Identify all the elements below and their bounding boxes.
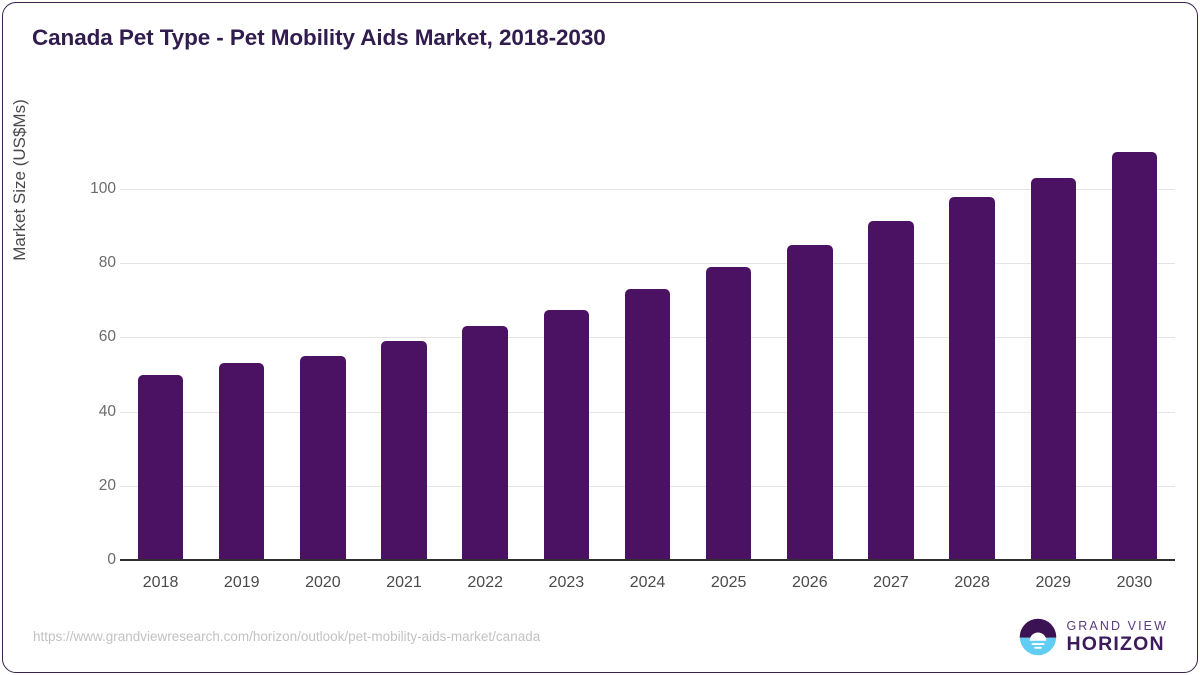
y-axis-tick-label: 60 [99,328,116,346]
y-axis-tick-label: 80 [99,254,116,272]
x-axis-tick-label: 2029 [1035,574,1071,592]
x-axis-tick-label: 2030 [1117,574,1153,592]
x-axis-tick-label: 2028 [954,574,990,592]
bar[interactable] [625,289,670,560]
y-axis-title: Market Size (US$Ms) [10,0,30,390]
gridline [120,263,1175,264]
plot-area [120,152,1175,560]
y-axis-tick-label: 0 [107,551,116,569]
bar[interactable] [949,197,994,560]
x-axis-tick-label: 2020 [305,574,341,592]
page-title: Canada Pet Type - Pet Mobility Aids Mark… [32,25,606,51]
logo-line-grand-view: GRAND VIEW [1066,620,1168,633]
x-axis-tick-label: 2022 [467,574,503,592]
bar[interactable] [868,221,913,560]
y-axis-tick-label: 100 [90,180,116,198]
brand-logo: GRAND VIEW HORIZON [1019,618,1168,656]
bar[interactable] [381,341,426,560]
chart-page: Canada Pet Type - Pet Mobility Aids Mark… [0,0,1200,675]
bar[interactable] [462,326,507,560]
bar[interactable] [787,245,832,560]
bar[interactable] [1031,178,1076,560]
x-axis-tick-label: 2025 [711,574,747,592]
x-axis-tick-label: 2021 [386,574,422,592]
y-axis-tick-label: 40 [99,403,116,421]
bar[interactable] [706,267,751,560]
y-axis-tick-label: 20 [99,477,116,495]
gridline [120,189,1175,190]
bar[interactable] [138,375,183,560]
bar[interactable] [300,356,345,560]
logo-wordmark: GRAND VIEW HORIZON [1066,620,1168,655]
x-axis-tick-label: 2026 [792,574,828,592]
x-axis-tick-label: 2023 [549,574,585,592]
bar[interactable] [1112,152,1157,560]
x-axis-tick-label: 2019 [224,574,260,592]
horizon-circle-icon [1019,618,1057,656]
source-url[interactable]: https://www.grandviewresearch.com/horizo… [33,629,540,644]
x-axis-tick-label: 2018 [143,574,179,592]
logo-line-horizon: HORIZON [1066,635,1168,655]
x-axis-tick-label: 2027 [873,574,909,592]
x-axis-line [120,559,1175,561]
x-axis-tick-label: 2024 [630,574,666,592]
bar[interactable] [219,363,264,560]
bar[interactable] [544,310,589,560]
